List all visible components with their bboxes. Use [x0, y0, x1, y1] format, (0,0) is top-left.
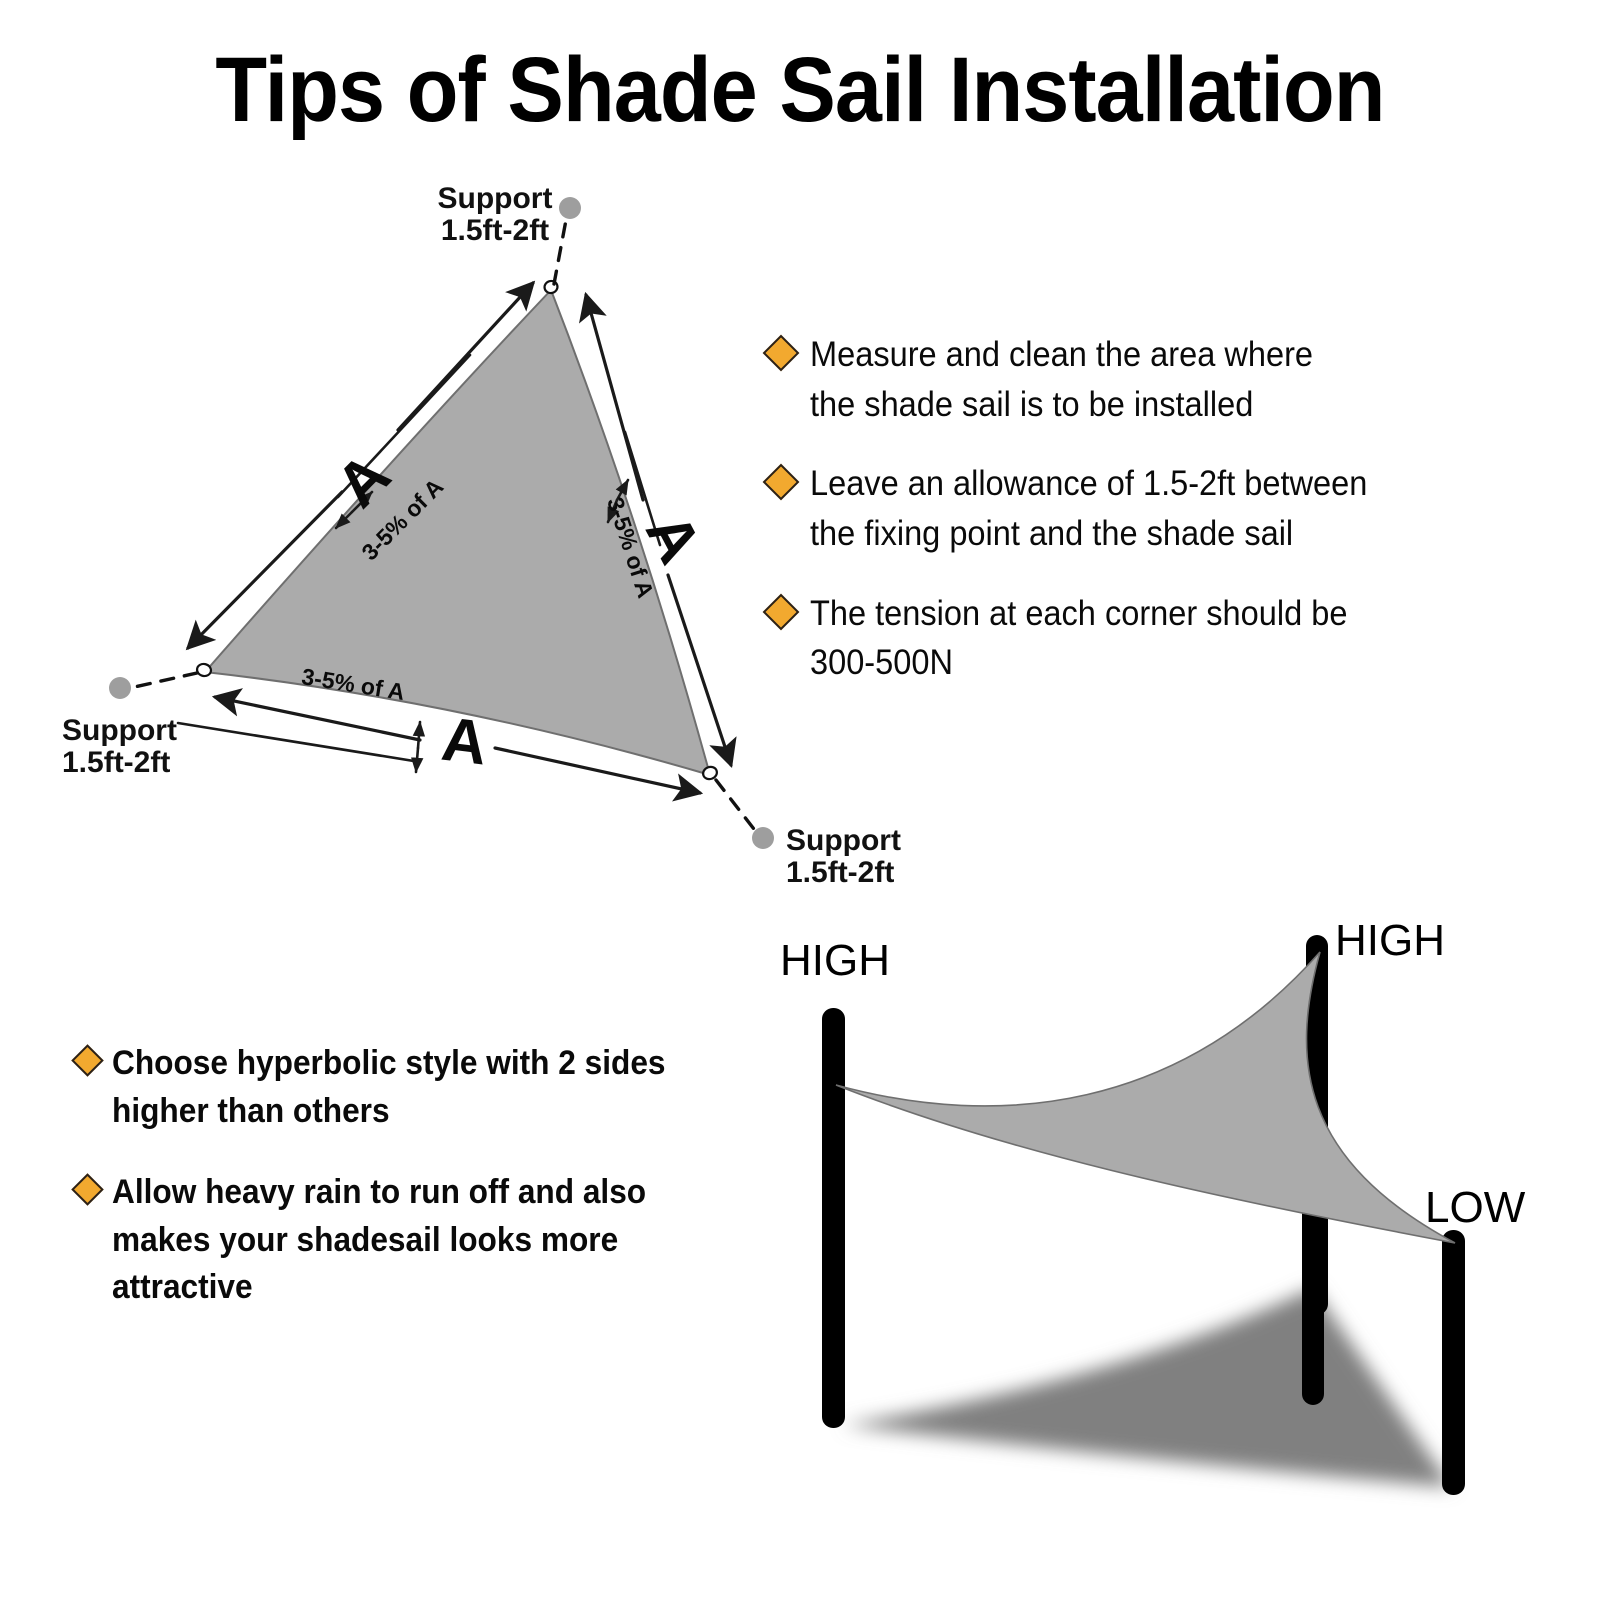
list-item: Measure and clean the area where the sha…	[768, 330, 1558, 429]
diamond-icon	[71, 1173, 104, 1206]
post-left	[822, 1008, 845, 1428]
support-br-line2: 1.5ft-2ft	[786, 856, 894, 889]
support-br-line1: Support	[786, 824, 901, 857]
label-low: LOW	[1425, 1183, 1526, 1232]
support-bottom-right-label: Support 1.5ft-2ft	[786, 824, 901, 889]
tip-text: The tension at each corner should be 300…	[810, 589, 1347, 688]
label-high-left: HIGH	[780, 936, 890, 985]
diamond-icon	[71, 1044, 104, 1077]
edge-left-dimension	[188, 283, 533, 648]
edge-left-side-label: A	[323, 440, 403, 520]
tips-list-top: Measure and clean the area where the sha…	[768, 330, 1558, 718]
triangle-sail-body	[205, 290, 710, 775]
edge-right-offset-label: 3-5% of A	[602, 494, 659, 601]
post-middle	[1302, 1155, 1324, 1405]
infographic-page: Tips of Shade Sail Installation	[0, 0, 1600, 1600]
edge-bottom-side-label: A	[438, 705, 491, 779]
tip-text: Leave an allowance of 1.5-2ft between th…	[810, 459, 1367, 558]
support-anchor-dots	[109, 197, 774, 849]
support-top-label: Support 1.5ft-2ft	[438, 182, 553, 247]
edge-left-labels: A 3-5% of A	[323, 440, 448, 565]
support-top-line1: Support	[438, 182, 553, 215]
support-left-line2: 1.5ft-2ft	[62, 746, 170, 779]
list-item: Choose hyperbolic style with 2 sides hig…	[76, 1040, 776, 1135]
sail-corner-eyelets	[196, 280, 719, 782]
tip-text: Allow heavy rain to run off and also mak…	[112, 1169, 646, 1312]
diamond-icon	[763, 593, 800, 630]
diamond-icon	[763, 464, 800, 501]
edge-bottom-offset-label: 3-5% of A	[300, 663, 407, 705]
label-high-right: HIGH	[1335, 916, 1445, 965]
edge-left-offset-label: 3-5% of A	[356, 473, 448, 565]
hyperbolic-post-labels: HIGH HIGH LOW	[780, 916, 1526, 1232]
tip-text: Choose hyperbolic style with 2 sides hig…	[112, 1040, 666, 1135]
triangle-diagram-layer: A 3-5% of A A 3-5% of A A 3-5% of A	[0, 0, 1600, 1600]
diamond-icon	[763, 335, 800, 372]
list-item: Allow heavy rain to run off and also mak…	[76, 1169, 776, 1312]
list-item: The tension at each corner should be 300…	[768, 589, 1558, 688]
list-item: Leave an allowance of 1.5-2ft between th…	[768, 459, 1558, 558]
edge-bottom-labels: A 3-5% of A	[300, 663, 491, 778]
support-top-line2: 1.5ft-2ft	[441, 214, 549, 247]
sail-ground-shadow	[843, 1288, 1452, 1487]
edge-right-side-label: A	[632, 502, 714, 574]
tip-text: Measure and clean the area where the sha…	[810, 330, 1313, 429]
hyperbolic-sail-panel	[836, 952, 1455, 1243]
page-title: Tips of Shade Sail Installation	[64, 44, 1536, 136]
support-left-line1: Support	[62, 714, 177, 747]
support-left-label: Support 1.5ft-2ft	[62, 714, 177, 779]
hyperbolic-diagram-layer: HIGH HIGH LOW	[0, 0, 1600, 1600]
support-leader-lines	[130, 220, 757, 833]
support-posts	[822, 935, 1465, 1495]
edge-right-dimension	[586, 295, 731, 765]
post-front-right	[1442, 1230, 1465, 1495]
edge-bottom-dimension	[178, 697, 700, 793]
post-back-right	[1306, 935, 1328, 1315]
edge-right-labels: A 3-5% of A	[602, 494, 714, 601]
tips-list-bottom: Choose hyperbolic style with 2 sides hig…	[76, 1040, 776, 1346]
